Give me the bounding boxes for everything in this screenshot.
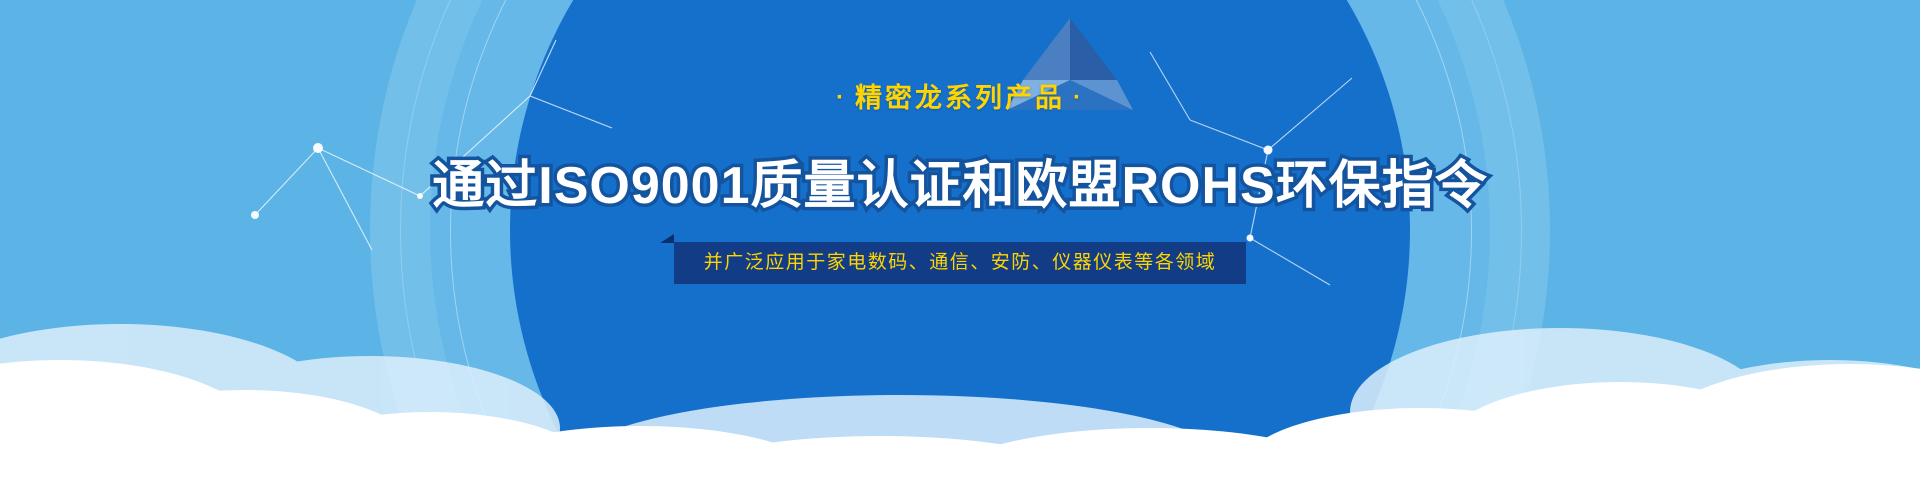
ribbon-tail-icon	[660, 234, 674, 243]
subtitle-text: 精密龙系列产品	[855, 83, 1065, 113]
banner-subtitle: ·精密龙系列产品·	[0, 76, 1920, 115]
cloud-decor	[0, 260, 1920, 480]
subtitle-dot-right: ·	[1065, 84, 1092, 111]
banner-title: 通过ISO9001质量认证和欧盟ROHS环保指令	[0, 143, 1920, 218]
promo-banner: ·精密龙系列产品· 通过ISO9001质量认证和欧盟ROHS环保指令 并广泛应用…	[0, 0, 1920, 480]
subtitle-dot-left: ·	[828, 84, 855, 111]
